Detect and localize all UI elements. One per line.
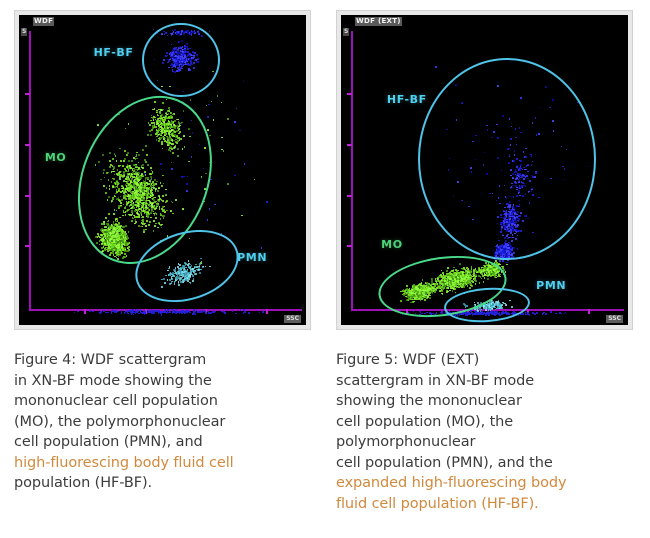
data-point [536, 312, 538, 314]
data-point [209, 31, 211, 33]
data-point [224, 312, 226, 314]
data-point [564, 313, 566, 315]
data-point [213, 119, 215, 121]
data-point [207, 116, 209, 118]
x-axis-tick [84, 309, 86, 314]
data-point [559, 312, 561, 314]
y-axis-tick [347, 144, 352, 146]
data-point [97, 124, 99, 126]
data-point [111, 311, 113, 313]
caption-line: cell population (PMN), and [14, 432, 314, 453]
data-point [239, 130, 241, 132]
plot-area-wdf: WDF S SSC HF-BFMOPMN [19, 15, 306, 325]
data-point [208, 312, 210, 314]
data-point [223, 150, 225, 152]
data-point [244, 163, 246, 165]
y-axis-tick [347, 245, 352, 247]
data-point [144, 312, 146, 314]
data-point [161, 314, 163, 316]
caption-line: Figure 4: WDF scattergram [14, 350, 314, 371]
figure-5-column: WDF (EXT) S SSC HF-BFMOPMN Figure 5: WDF… [325, 0, 650, 538]
data-point [107, 312, 109, 314]
data-point [210, 312, 212, 314]
data-point [153, 29, 155, 31]
data-point [236, 108, 238, 110]
data-point [555, 313, 557, 315]
data-point [561, 313, 563, 315]
plot-area-wdf-ext: WDF (EXT) S SSC HF-BFMOPMN [341, 15, 628, 325]
data-point [234, 175, 236, 177]
data-point [518, 315, 520, 317]
data-point [235, 313, 237, 315]
data-point [262, 311, 264, 313]
y-axis-tick [347, 93, 352, 95]
data-point [241, 215, 243, 217]
y-axis-origin-label: S [21, 28, 27, 36]
data-point [175, 313, 177, 315]
x-axis-tick [588, 309, 590, 314]
data-point [213, 311, 215, 313]
data-point [207, 129, 209, 131]
data-point [550, 311, 552, 313]
data-point [77, 311, 79, 313]
caption-line: population (HF-BF). [14, 473, 314, 494]
data-point [259, 312, 261, 314]
data-point [565, 312, 567, 314]
x-axis-label: SSC [284, 315, 301, 323]
caption-text: (MO), the polymorphonuclear [14, 414, 225, 430]
y-axis-tick [347, 195, 352, 197]
caption-text: mononuclear cell population [14, 393, 218, 409]
data-point [243, 309, 245, 311]
data-point [244, 311, 246, 313]
caption-highlight-text: high-fluorescing body fluid cell [14, 455, 234, 471]
data-point [74, 312, 76, 314]
data-point [149, 312, 151, 314]
y-axis-tick [25, 195, 30, 197]
data-point [206, 105, 208, 107]
data-point [527, 313, 529, 315]
data-point [127, 313, 129, 315]
caption-line: high-fluorescing body fluid cell [14, 453, 314, 474]
data-point [202, 312, 204, 314]
y-axis-tick [25, 144, 30, 146]
plot-axis-title: WDF [33, 17, 54, 26]
data-point [121, 312, 123, 314]
caption-line: (MO), the polymorphonuclear [14, 412, 314, 433]
data-point [499, 260, 501, 262]
data-point [175, 309, 177, 311]
data-point [525, 314, 527, 316]
figures-page: WDF S SSC HF-BFMOPMN Figure 4: WDF scatt… [0, 0, 650, 538]
data-point [227, 118, 229, 120]
data-point [195, 108, 197, 110]
data-point [155, 311, 157, 313]
caption-text: Figure 4: WDF scattergram [14, 352, 206, 368]
caption-line: in XN-BF mode showing the [14, 371, 314, 392]
data-point [435, 66, 437, 68]
data-point [542, 313, 544, 315]
data-point [545, 313, 547, 315]
data-point [170, 312, 172, 314]
figure-4-scattergram: WDF S SSC HF-BFMOPMN [14, 10, 311, 330]
caption-text: population (HF-BF). [14, 475, 152, 491]
x-axis-label: SSC [606, 315, 623, 323]
data-point [118, 311, 120, 313]
x-axis-tick [266, 309, 268, 314]
data-point [209, 208, 211, 210]
data-point [152, 312, 154, 314]
gate-label-pmn: PMN [237, 251, 267, 264]
y-axis-tick [25, 245, 30, 247]
data-point [167, 309, 169, 311]
data-point [529, 314, 531, 316]
data-point [208, 104, 210, 106]
data-point [207, 219, 209, 221]
data-point [243, 81, 245, 83]
figure-4-caption: Figure 4: WDF scattergramin XN-BF mode s… [14, 350, 314, 494]
data-point [90, 310, 92, 312]
data-point [209, 135, 211, 137]
gate-hf-bf [142, 23, 219, 97]
figure-4-column: WDF S SSC HF-BFMOPMN Figure 4: WDF scatt… [0, 0, 325, 538]
data-point [234, 121, 236, 123]
data-point [221, 102, 223, 104]
caption-text: cell population (PMN), and [14, 434, 203, 450]
y-axis-tick [25, 93, 30, 95]
data-point [248, 312, 250, 314]
gate-label-mo: MO [45, 151, 67, 164]
data-point [217, 95, 219, 97]
data-point [205, 312, 207, 314]
data-point [534, 313, 536, 315]
data-point [211, 101, 213, 103]
caption-text: in XN-BF mode showing the [14, 373, 212, 389]
data-point [502, 260, 504, 262]
data-point [266, 201, 268, 203]
data-point [254, 179, 256, 181]
data-point [103, 310, 105, 312]
data-point [138, 313, 140, 315]
data-point [227, 183, 229, 185]
data-point [214, 204, 216, 206]
data-point [261, 247, 263, 249]
data-point [131, 312, 133, 314]
data-point [194, 313, 196, 315]
data-point [214, 311, 216, 313]
data-point [193, 311, 195, 313]
gate-label-hf-bf: HF-BF [94, 46, 134, 59]
y-axis-origin-label: S [343, 28, 349, 36]
y-axis-line [29, 31, 31, 311]
data-point [148, 310, 150, 312]
caption-line: mononuclear cell population [14, 391, 314, 412]
data-point [190, 99, 192, 101]
data-point [183, 311, 185, 313]
figure-5-scattergram: WDF (EXT) S SSC HF-BFMOPMN [336, 10, 633, 330]
plot-axis-title: WDF (EXT) [355, 17, 402, 26]
data-point [221, 137, 223, 139]
data-point [243, 312, 245, 314]
data-point [522, 313, 524, 315]
y-axis-line [351, 31, 353, 311]
